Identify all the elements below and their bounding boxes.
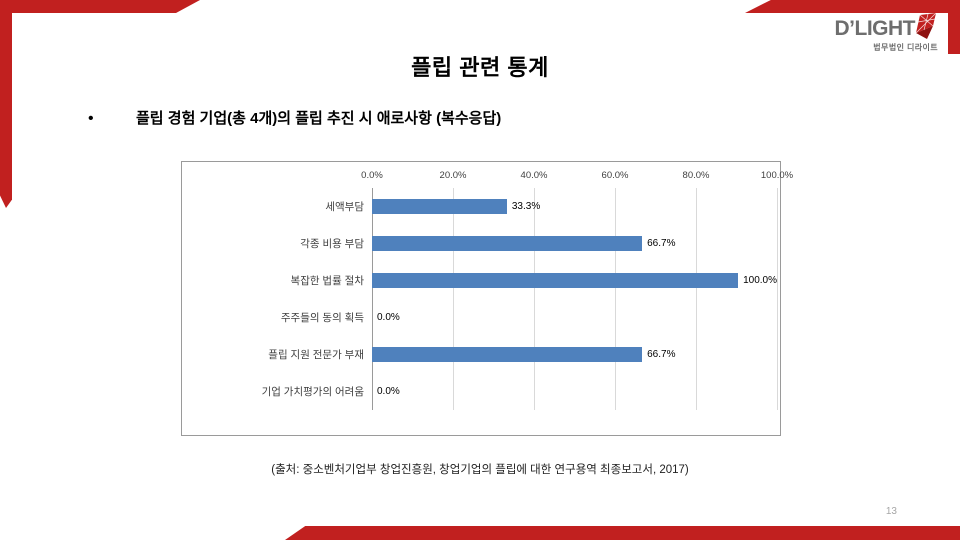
- chart-inner: 0.0%20.0%40.0%60.0%80.0%100.0% 세액부담33.3%…: [182, 162, 780, 435]
- bar-value-label: 0.0%: [377, 312, 400, 323]
- category-label: 플립 지원 전문가 부재: [182, 347, 364, 362]
- chart-row: 주주들의 동의 획득0.0%: [182, 299, 780, 336]
- x-axis-tick-labels: 0.0%20.0%40.0%60.0%80.0%100.0%: [372, 170, 777, 186]
- bar-value-label: 100.0%: [743, 275, 777, 286]
- bar-value-label: 0.0%: [377, 386, 400, 397]
- bar: [372, 199, 507, 214]
- bullet-marker-icon: •: [88, 111, 136, 127]
- decoration-bottom-band: [285, 526, 960, 540]
- category-label: 기업 가치평가의 어려움: [182, 384, 364, 399]
- bar-chart: 0.0%20.0%40.0%60.0%80.0%100.0% 세액부담33.3%…: [181, 161, 781, 436]
- bar-track: 0.0%: [372, 299, 777, 336]
- bar: [372, 347, 642, 362]
- bullet-item: • 플립 경험 기업(총 4개)의 플립 추진 시 애로사항 (복수응답): [88, 107, 501, 128]
- x-axis-tick-label: 40.0%: [521, 170, 548, 181]
- page-number: 13: [886, 506, 897, 517]
- bar-track: 66.7%: [372, 336, 777, 373]
- decoration-top-right-band: [745, 0, 960, 13]
- bar-value-label: 66.7%: [647, 349, 675, 360]
- slide: D’LIGHT 법무법인 디라이트 플립 관련 통계 • 플립 경험 기업(총 …: [0, 0, 960, 540]
- category-label: 복잡한 법률 절차: [182, 273, 364, 288]
- chart-rows: 세액부담33.3%각종 비용 부담66.7%복잡한 법률 절차100.0%주주들…: [182, 188, 780, 410]
- dlight-mark-icon: [914, 13, 938, 39]
- bullet-text: 플립 경험 기업(총 4개)의 플립 추진 시 애로사항 (복수응답): [136, 107, 501, 128]
- bar-value-label: 33.3%: [512, 201, 540, 212]
- chart-row: 복잡한 법률 절차100.0%: [182, 262, 780, 299]
- bar: [372, 273, 738, 288]
- bar-value-label: 66.7%: [647, 238, 675, 249]
- category-label: 주주들의 동의 획득: [182, 310, 364, 325]
- source-note: (출처: 중소벤처기업부 창업진흥원, 창업기업의 플립에 대한 연구용역 최종…: [0, 461, 960, 477]
- x-axis-tick-label: 20.0%: [440, 170, 467, 181]
- bar-track: 100.0%: [372, 262, 777, 299]
- page-title: 플립 관련 통계: [0, 50, 960, 82]
- category-label: 세액부담: [182, 199, 364, 214]
- decoration-left-strip: [0, 0, 12, 208]
- chart-row: 기업 가치평가의 어려움0.0%: [182, 373, 780, 410]
- x-axis-tick-label: 80.0%: [683, 170, 710, 181]
- logo-wordmark: D’LIGHT: [835, 18, 939, 39]
- decoration-top-left-band: [0, 0, 200, 13]
- category-label: 각종 비용 부담: [182, 236, 364, 251]
- bar-track: 33.3%: [372, 188, 777, 225]
- brand-logo: D’LIGHT 법무법인 디라이트: [835, 18, 939, 52]
- chart-row: 플립 지원 전문가 부재66.7%: [182, 336, 780, 373]
- x-axis-tick-label: 100.0%: [761, 170, 793, 181]
- chart-row: 각종 비용 부담66.7%: [182, 225, 780, 262]
- chart-row: 세액부담33.3%: [182, 188, 780, 225]
- logo-text: D’LIGHT: [835, 18, 916, 39]
- bar-track: 0.0%: [372, 373, 777, 410]
- x-axis-tick-label: 60.0%: [602, 170, 629, 181]
- decoration-right-strip: [948, 0, 960, 54]
- bar: [372, 236, 642, 251]
- x-axis-tick-label: 0.0%: [361, 170, 383, 181]
- bar-track: 66.7%: [372, 225, 777, 262]
